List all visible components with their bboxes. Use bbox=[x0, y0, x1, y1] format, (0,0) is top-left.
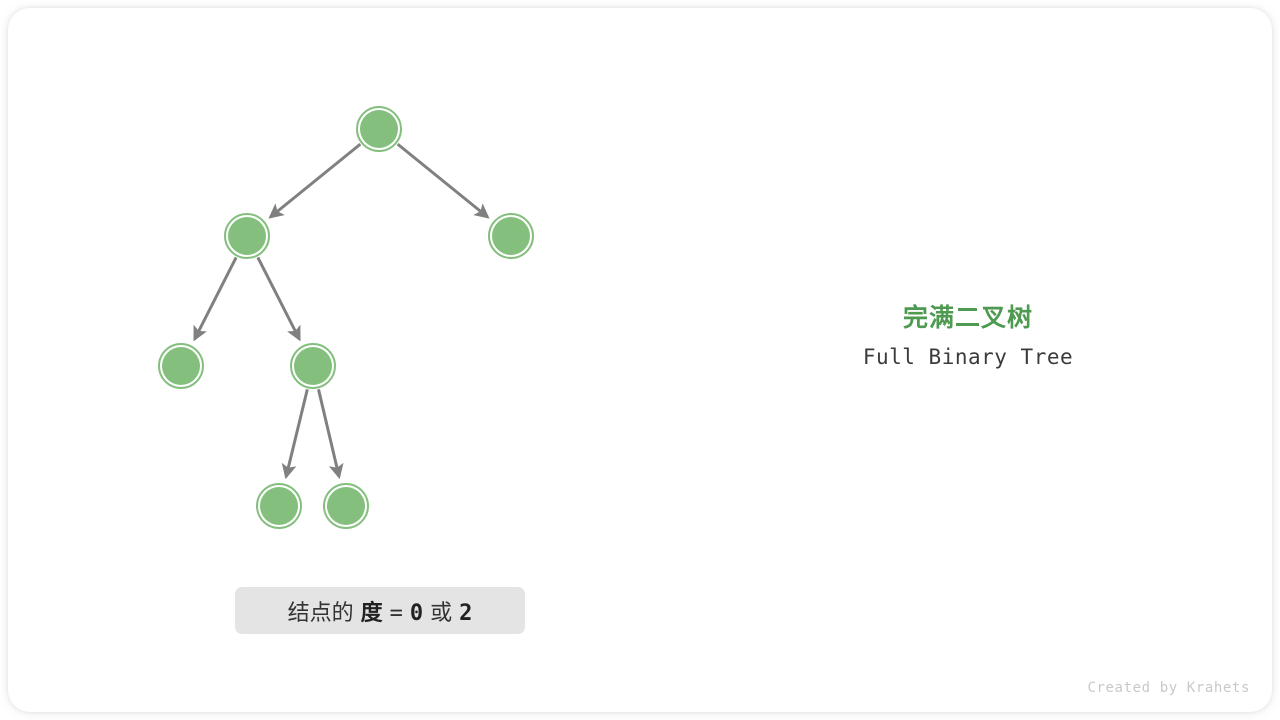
tree-node-fill bbox=[260, 487, 298, 525]
tree-node bbox=[489, 214, 533, 258]
tree-node bbox=[257, 484, 301, 528]
tree-edge bbox=[195, 257, 237, 339]
tree-node-fill bbox=[492, 217, 530, 255]
caption-part: 2 bbox=[459, 601, 472, 626]
tree-node bbox=[225, 214, 269, 258]
tree-edge bbox=[319, 389, 340, 476]
tree-edge bbox=[270, 144, 360, 217]
caption-text: 结点的度=0或2 bbox=[288, 595, 473, 627]
caption-part: 0 bbox=[410, 601, 423, 626]
credit-label: Created by Krahets bbox=[1087, 680, 1250, 696]
tree-edge bbox=[286, 389, 307, 477]
tree-node bbox=[159, 344, 203, 388]
diagram-canvas: 完满二叉树 Full Binary Tree 结点的度=0或2 Created … bbox=[0, 0, 1280, 720]
tree-node bbox=[324, 484, 368, 528]
tree-node-fill bbox=[327, 487, 365, 525]
caption-part: 结点的 bbox=[288, 601, 354, 626]
caption-box: 结点的度=0或2 bbox=[235, 587, 525, 634]
title-english: Full Binary Tree bbox=[768, 345, 1168, 369]
tree-node-fill bbox=[294, 347, 332, 385]
tree-edges bbox=[195, 144, 488, 477]
tree-node-fill bbox=[228, 217, 266, 255]
caption-part: 或 bbox=[430, 601, 452, 626]
tree-edge bbox=[398, 144, 488, 217]
title-chinese: 完满二叉树 bbox=[768, 298, 1168, 334]
tree-node bbox=[291, 344, 335, 388]
caption-part: = bbox=[390, 601, 403, 626]
caption-part: 度 bbox=[361, 601, 383, 626]
tree-nodes bbox=[159, 107, 533, 528]
tree-node-fill bbox=[360, 110, 398, 148]
tree-edge bbox=[258, 257, 300, 339]
tree-node-fill bbox=[162, 347, 200, 385]
tree-node bbox=[357, 107, 401, 151]
